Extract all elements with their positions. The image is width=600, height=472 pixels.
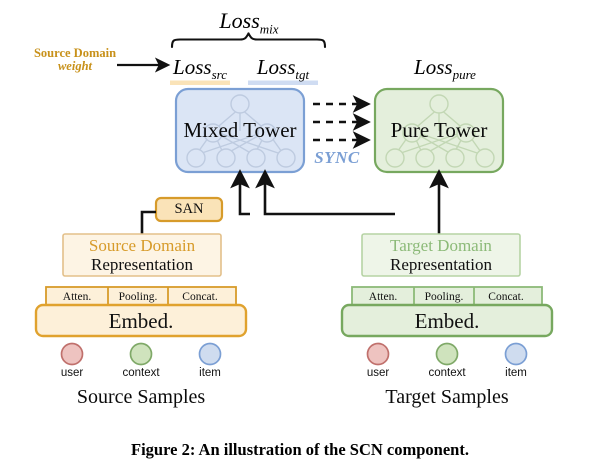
target-cell-concat[interactable]: Concat.	[488, 291, 523, 303]
sync-dashed-arrows	[313, 104, 361, 140]
target-representation-label: Target Domain Representation	[390, 236, 492, 274]
source-domain-weight-label: Source Domain weight	[34, 47, 116, 73]
target-node-label-user: user	[367, 367, 389, 379]
source-samples-title: Source Samples	[77, 386, 205, 409]
figure-canvas: Lossmix Source Domain weight Losssrc Los…	[0, 0, 600, 472]
source-representation-subtitle: Representation	[89, 255, 195, 274]
target-samples-title: Target Samples	[385, 386, 508, 409]
pure-tower-label: Pure Tower	[391, 118, 488, 143]
san-label: SAN	[174, 201, 203, 218]
mixed-tower-label: Mixed Tower	[183, 118, 296, 143]
san-to-source-connector	[142, 212, 156, 236]
source-cell-atten[interactable]: Atten.	[63, 291, 91, 303]
target-sample-nodes	[368, 344, 527, 365]
source-node-label-context: context	[122, 367, 159, 379]
source-cell-concat[interactable]: Concat.	[182, 291, 217, 303]
source-sample-nodes	[62, 344, 221, 365]
target-node-label-context: context	[428, 367, 465, 379]
loss-tgt-label: Losstgt	[257, 55, 309, 83]
loss-mix-label: Lossmix	[219, 8, 278, 37]
target-embed-label: Embed.	[415, 309, 480, 334]
source-node-label-item: item	[199, 367, 221, 379]
loss-src-label: Losssrc	[173, 55, 227, 83]
source-weight-line2: weight	[34, 60, 116, 73]
target-cell-pooling[interactable]: Pooling.	[425, 291, 464, 303]
target-cell-atten[interactable]: Atten.	[369, 291, 397, 303]
source-representation-label: Source Domain Representation	[89, 236, 195, 274]
target-representation-title: Target Domain	[390, 236, 492, 255]
sync-label: SYNC	[314, 148, 359, 168]
tower-input-arrows	[240, 180, 439, 236]
target-node-label-item: item	[505, 367, 527, 379]
figure-caption: Figure 2: An illustration of the SCN com…	[131, 440, 469, 460]
source-node-label-user: user	[61, 367, 83, 379]
source-representation-title: Source Domain	[89, 236, 195, 255]
source-cell-pooling[interactable]: Pooling.	[119, 291, 158, 303]
loss-pure-label: Losspure	[414, 55, 476, 83]
source-embed-label: Embed.	[109, 309, 174, 334]
target-representation-subtitle: Representation	[390, 255, 492, 274]
